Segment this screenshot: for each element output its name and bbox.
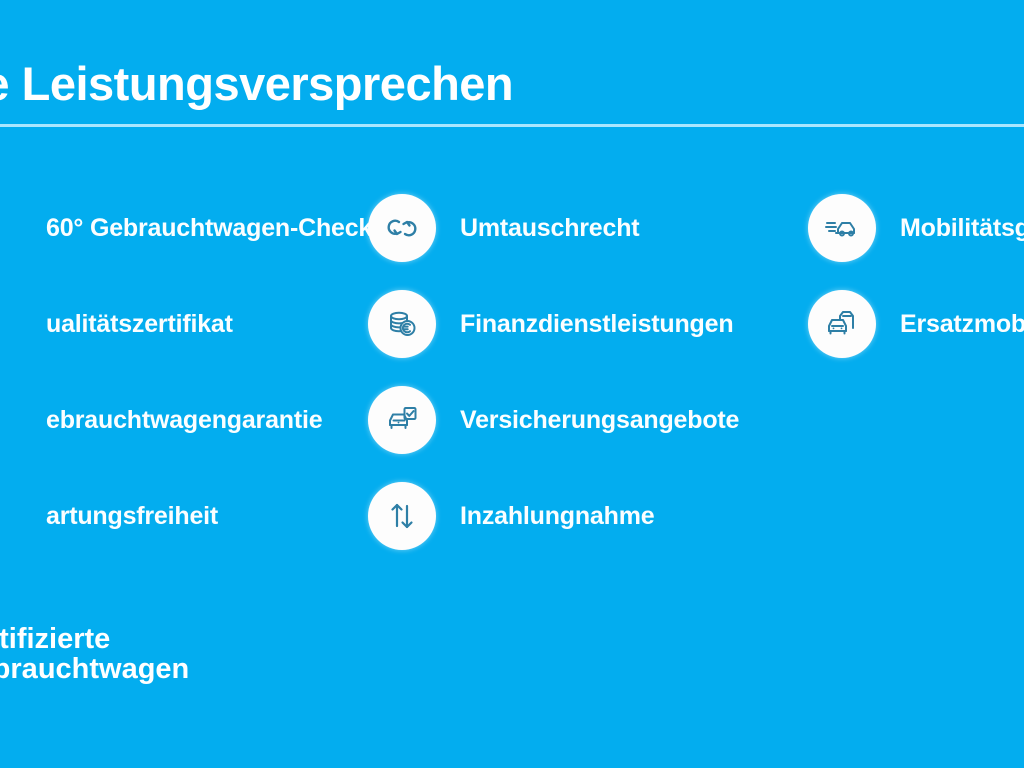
certified-line-2: Gebrauchtwagen bbox=[0, 654, 189, 684]
feature-item[interactable]: Versicherungsangebote bbox=[368, 380, 808, 460]
feature-item[interactable]: Finanzdienstleistungen bbox=[368, 284, 808, 364]
feature-label: artungsfreiheit bbox=[46, 502, 218, 531]
exchange-arrows-icon bbox=[368, 194, 436, 262]
feature-column-right: Mobilitätsg Ersatzmob bbox=[808, 188, 1024, 380]
feature-label: ebrauchtwagengarantie bbox=[46, 406, 322, 435]
feature-label: 60° Gebrauchtwagen-Check bbox=[46, 214, 372, 243]
certified-line-1: Zertifizierte bbox=[0, 624, 189, 654]
feature-item[interactable]: ebrauchtwagengarantie bbox=[0, 380, 374, 460]
feature-label: ualitätszertifikat bbox=[46, 310, 233, 339]
feature-item[interactable]: 60° Gebrauchtwagen-Check bbox=[0, 188, 374, 268]
feature-item[interactable]: Inzahlungnahme bbox=[368, 476, 808, 556]
slide-canvas: ere Leistungsversprechen 60° Gebrauchtwa… bbox=[0, 0, 1024, 768]
feature-item[interactable]: artungsfreiheit bbox=[0, 476, 374, 556]
certified-used-cars-block: Zertifizierte Gebrauchtwagen bbox=[0, 624, 189, 685]
coins-euro-icon bbox=[368, 290, 436, 358]
car-speed-lines-icon bbox=[808, 194, 876, 262]
feature-item[interactable]: Umtauschrecht bbox=[368, 188, 808, 268]
feature-label: Inzahlungnahme bbox=[460, 502, 654, 531]
page-title: ere Leistungsversprechen bbox=[0, 56, 1024, 111]
feature-item[interactable]: ualitätszertifikat bbox=[0, 284, 374, 364]
feature-label: Umtauschrecht bbox=[460, 214, 639, 243]
two-cars-icon bbox=[808, 290, 876, 358]
feature-item[interactable]: Mobilitätsg bbox=[808, 188, 1024, 268]
feature-item[interactable]: Ersatzmob bbox=[808, 284, 1024, 364]
feature-column-left: 60° Gebrauchtwagen-Check ualitätszertifi… bbox=[0, 188, 374, 572]
feature-label: Finanzdienstleistungen bbox=[460, 310, 733, 339]
car-checkmark-icon bbox=[368, 386, 436, 454]
up-down-arrows-icon bbox=[368, 482, 436, 550]
feature-label: Mobilitätsg bbox=[900, 214, 1024, 243]
feature-label: Ersatzmob bbox=[900, 310, 1024, 339]
feature-column-middle: Umtauschrecht Finanzdienstleistungen bbox=[368, 188, 808, 572]
title-divider bbox=[0, 124, 1024, 127]
feature-label: Versicherungsangebote bbox=[460, 406, 739, 435]
